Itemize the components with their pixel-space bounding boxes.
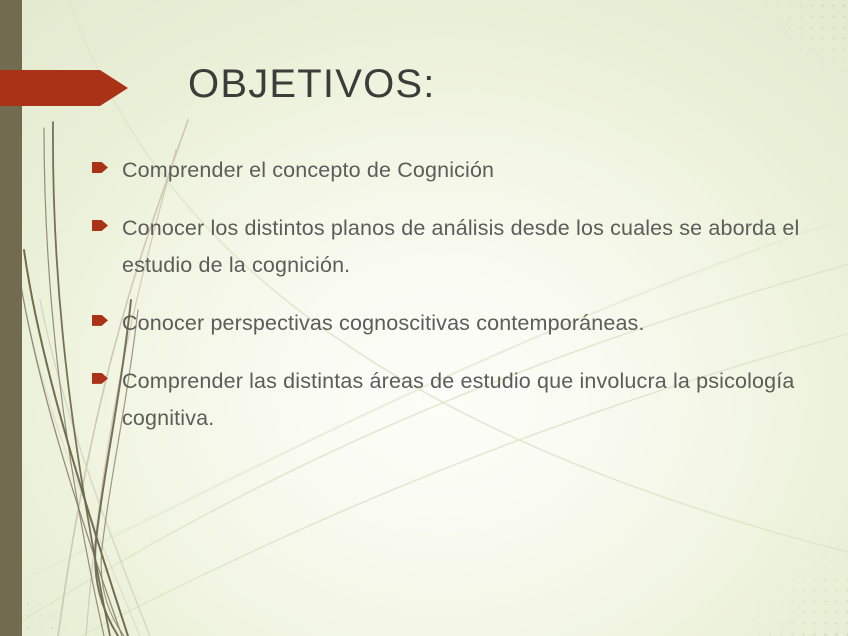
list-item-label: Conocer los distintos planos de análisis… [122, 210, 804, 284]
list-item-label: Comprender el concepto de Cognición [122, 152, 804, 189]
arrow-bullet-icon [92, 220, 108, 231]
presentation-slide: OBJETIVOS: Comprender el concepto de Cog… [0, 0, 848, 636]
list-item-label: Comprender las distintas áreas de estudi… [122, 363, 804, 437]
list-item: Comprender las distintas áreas de estudi… [92, 363, 804, 437]
list-item: Conocer perspectivas cognoscitivas conte… [92, 305, 804, 342]
list-item: Conocer los distintos planos de análisis… [92, 210, 804, 284]
corner-dot-pattern-bottom-left [22, 526, 132, 636]
page-title: OBJETIVOS: [188, 62, 436, 107]
arrow-bullet-icon [92, 162, 108, 173]
title-arrow-banner [0, 70, 128, 106]
objectives-list: Comprender el concepto de Cognición Cono… [92, 152, 804, 458]
list-item: Comprender el concepto de Cognición [92, 152, 804, 189]
corner-dot-pattern-top-right [718, 0, 848, 120]
corner-dot-pattern-bottom-right [688, 486, 848, 636]
arrow-bullet-icon [92, 373, 108, 384]
arrow-bullet-icon [92, 315, 108, 326]
list-item-label: Conocer perspectivas cognoscitivas conte… [122, 305, 804, 342]
